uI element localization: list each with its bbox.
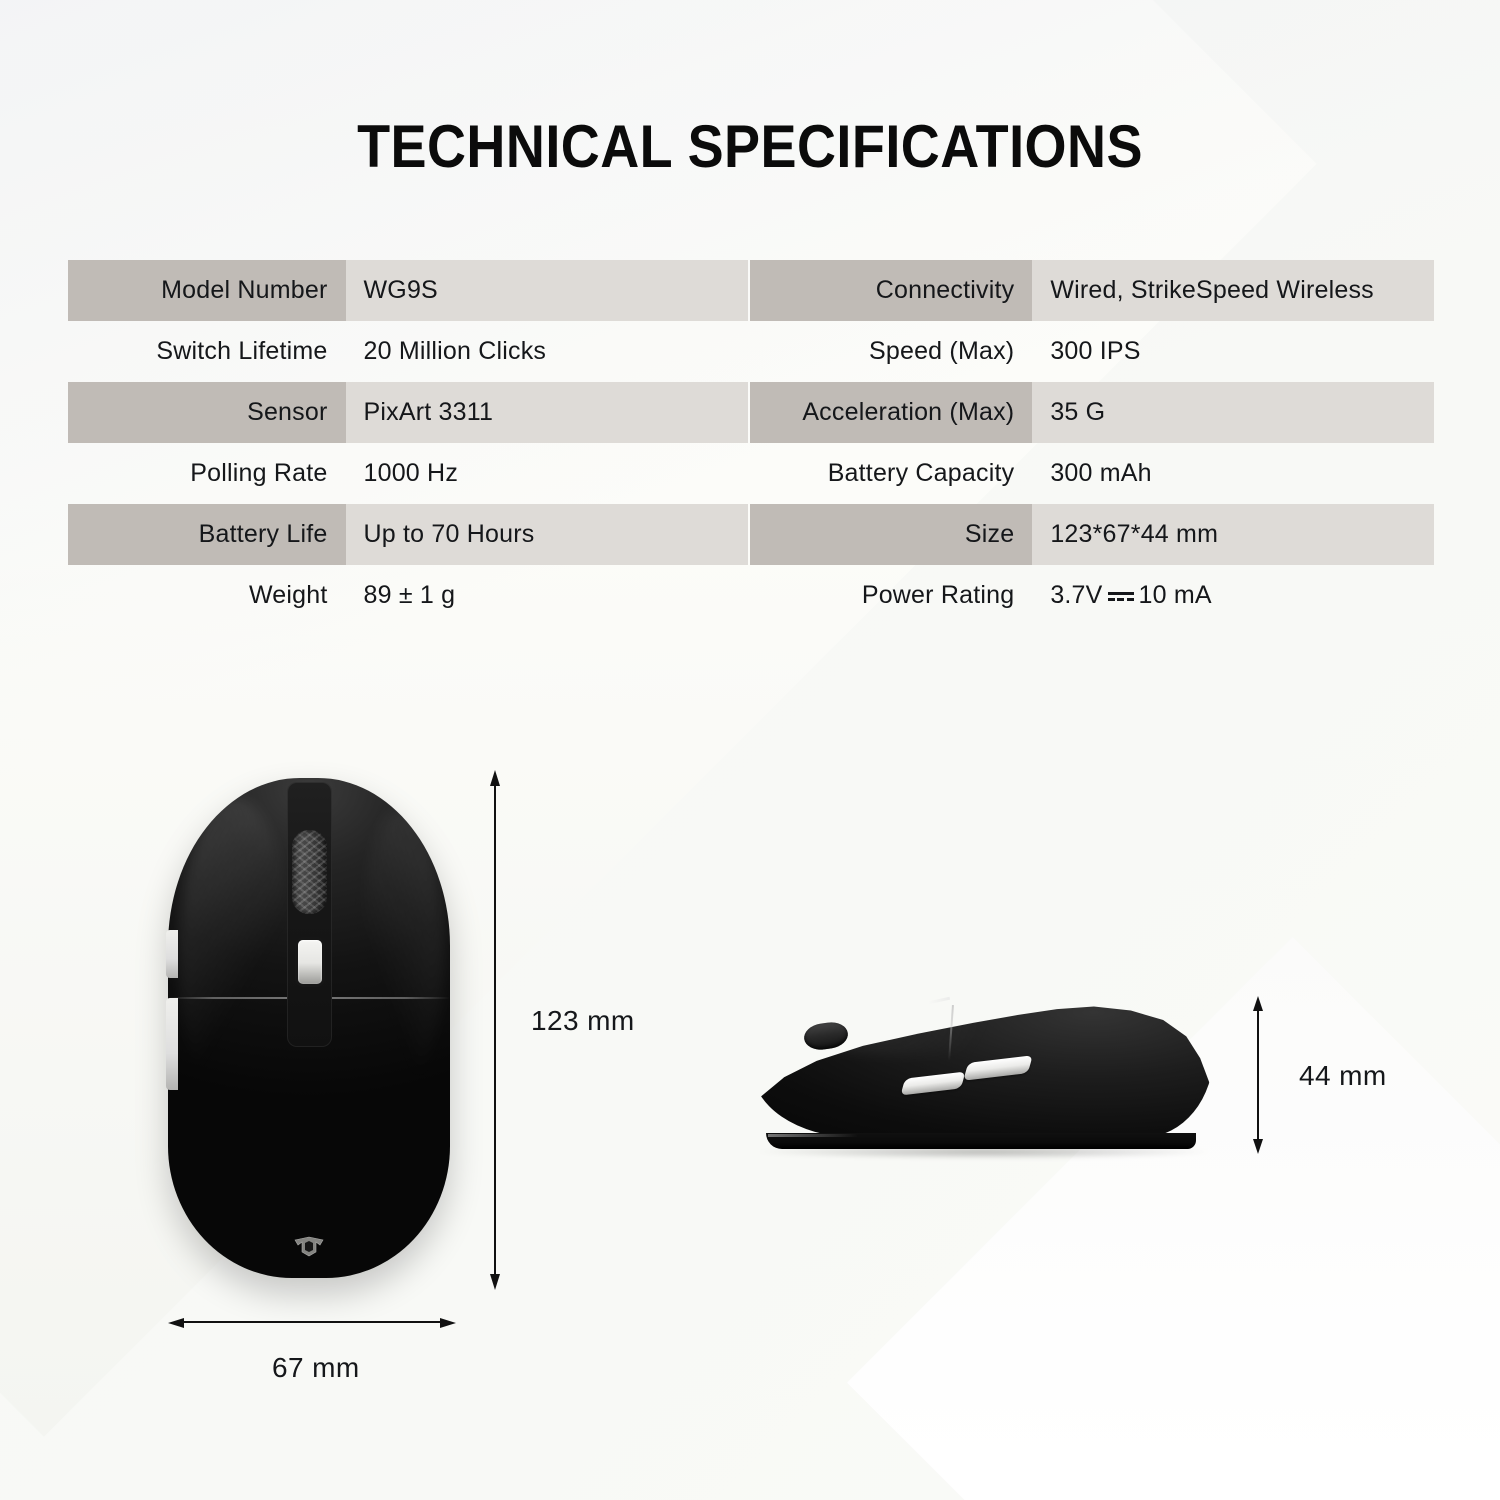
dimension-arrows-depth xyxy=(1248,996,1268,1154)
table-row: Battery Life Up to 70 Hours Size 123*67*… xyxy=(68,504,1432,565)
scroll-wheel-side-icon xyxy=(802,1020,849,1052)
spec-label: Model Number xyxy=(68,260,346,321)
spec-label: Sensor xyxy=(68,382,346,443)
power-voltage: 3.7V xyxy=(1050,581,1102,610)
mouse-side-view xyxy=(752,995,1214,1155)
scroll-wheel-icon xyxy=(292,830,327,914)
spec-label: Switch Lifetime xyxy=(68,321,346,382)
table-row: Polling Rate 1000 Hz Battery Capacity 30… xyxy=(68,443,1432,504)
table-row-right-half: Size 123*67*44 mm xyxy=(750,504,1434,565)
side-button-forward xyxy=(166,930,178,978)
dimension-label-width: 67 mm xyxy=(272,1352,360,1384)
spec-value: 123*67*44 mm xyxy=(1032,504,1434,565)
spec-label: Battery Capacity xyxy=(750,443,1032,504)
spec-value: 35 G xyxy=(1032,382,1434,443)
side-highlight xyxy=(812,1015,1052,1055)
center-strip xyxy=(287,782,332,1047)
table-row: Model Number WG9S Connectivity Wired, St… xyxy=(68,260,1432,321)
mouse-top-shell xyxy=(168,778,450,1278)
table-row-right-half: Power Rating 3.7V 10 mA xyxy=(750,565,1434,626)
spec-value: PixArt 3311 xyxy=(346,382,749,443)
spec-value: Up to 70 Hours xyxy=(346,504,749,565)
product-imagery: 123 mm 67 mm 44 mm xyxy=(0,0,1500,1500)
dimension-arrows-height xyxy=(485,770,505,1290)
spec-value-power-rating: 3.7V 10 mA xyxy=(1032,565,1434,626)
table-row-right-half: Acceleration (Max) 35 G xyxy=(750,382,1434,443)
table-row-right-half: Speed (Max) 300 IPS xyxy=(750,321,1434,382)
spec-value: 1000 Hz xyxy=(346,443,749,504)
table-row-left-half: Switch Lifetime 20 Million Clicks xyxy=(68,321,748,382)
base-lip-highlight xyxy=(768,1134,858,1137)
table-row-left-half: Battery Life Up to 70 Hours xyxy=(68,504,748,565)
spec-label: Power Rating xyxy=(750,565,1032,626)
page-title: TECHNICAL SPECIFICATIONS xyxy=(75,112,1425,181)
dimension-label-height: 123 mm xyxy=(531,1005,635,1037)
spec-value: 300 mAh xyxy=(1032,443,1434,504)
spec-label: Acceleration (Max) xyxy=(750,382,1032,443)
highlight-left xyxy=(179,798,292,1108)
specifications-table: Model Number WG9S Connectivity Wired, St… xyxy=(68,260,1432,626)
table-row-left-half: Model Number WG9S xyxy=(68,260,748,321)
table-row-left-half: Weight 89 ± 1 g xyxy=(68,565,748,626)
top-seam-highlight xyxy=(928,997,950,1005)
table-row: Weight 89 ± 1 g Power Rating 3.7V 10 mA xyxy=(68,565,1432,626)
brand-logo-icon xyxy=(292,1236,326,1258)
power-current: 10 mA xyxy=(1139,581,1212,610)
dimension-label-depth: 44 mm xyxy=(1299,1060,1387,1092)
highlight-right xyxy=(360,808,445,1088)
dimension-arrows-width xyxy=(168,1313,456,1333)
spec-label: Connectivity xyxy=(750,260,1032,321)
spec-label: Speed (Max) xyxy=(750,321,1032,382)
spec-label: Battery Life xyxy=(68,504,346,565)
spec-label: Size xyxy=(750,504,1032,565)
spec-value: 89 ± 1 g xyxy=(346,565,749,626)
table-row: Sensor PixArt 3311 Acceleration (Max) 35… xyxy=(68,382,1432,443)
dpi-button xyxy=(298,940,322,984)
dc-power-symbol-icon xyxy=(1108,588,1134,604)
spec-label: Weight xyxy=(68,565,346,626)
table-row-left-half: Polling Rate 1000 Hz xyxy=(68,443,748,504)
mouse-top-view xyxy=(168,778,450,1278)
spec-value: WG9S xyxy=(346,260,749,321)
side-button-back xyxy=(166,998,178,1090)
table-row-right-half: Battery Capacity 300 mAh xyxy=(750,443,1434,504)
spec-label: Polling Rate xyxy=(68,443,346,504)
table-row-right-half: Connectivity Wired, StrikeSpeed Wireless xyxy=(750,260,1434,321)
mouse-side-shadow xyxy=(758,1147,1210,1159)
spec-value: Wired, StrikeSpeed Wireless xyxy=(1032,260,1434,321)
table-row: Switch Lifetime 20 Million Clicks Speed … xyxy=(68,321,1432,382)
table-row-left-half: Sensor PixArt 3311 xyxy=(68,382,748,443)
spec-value: 300 IPS xyxy=(1032,321,1434,382)
spec-value: 20 Million Clicks xyxy=(346,321,749,382)
